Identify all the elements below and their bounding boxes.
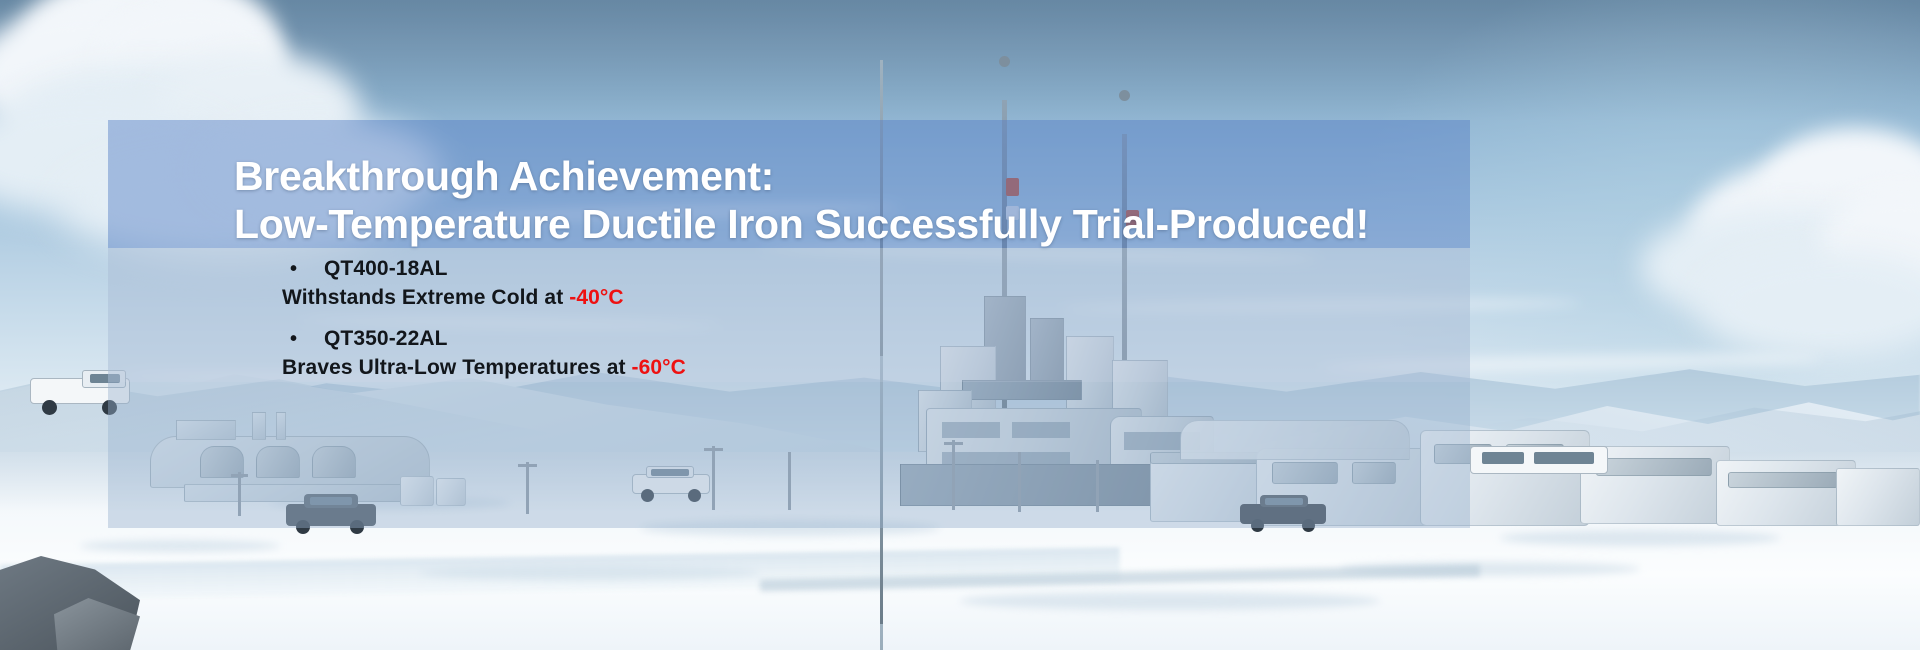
page-title: Breakthrough Achievement: Low-Temperatur… bbox=[234, 152, 1474, 249]
feature-list: • QT400-18AL Withstands Extreme Cold at … bbox=[282, 258, 1382, 398]
headline-line-2: Low-Temperature Ductile Iron Successfull… bbox=[234, 200, 1474, 248]
headline-line-1: Breakthrough Achievement: bbox=[234, 152, 1474, 200]
list-item: • QT400-18AL Withstands Extreme Cold at … bbox=[282, 258, 1382, 308]
list-item: • QT350-22AL Braves Ultra-Low Temperatur… bbox=[282, 328, 1382, 378]
temperature-value: -40°C bbox=[569, 286, 623, 309]
lower-overlay-panel bbox=[108, 382, 1470, 528]
material-grade-label: QT350-22AL bbox=[324, 328, 448, 349]
promo-banner: Breakthrough Achievement: Low-Temperatur… bbox=[0, 0, 1920, 650]
bullet-dot-icon: • bbox=[290, 329, 324, 349]
truck-far-right bbox=[1470, 440, 1610, 484]
material-grade-label: QT400-18AL bbox=[324, 258, 448, 279]
bullet-dot-icon: • bbox=[290, 259, 324, 279]
temperature-value: -60°C bbox=[632, 356, 686, 379]
description-text: Withstands Extreme Cold at bbox=[282, 286, 569, 309]
material-description: Withstands Extreme Cold at -40°C bbox=[282, 287, 1382, 308]
material-description: Braves Ultra-Low Temperatures at -60°C bbox=[282, 357, 1382, 378]
description-text: Braves Ultra-Low Temperatures at bbox=[282, 356, 632, 379]
